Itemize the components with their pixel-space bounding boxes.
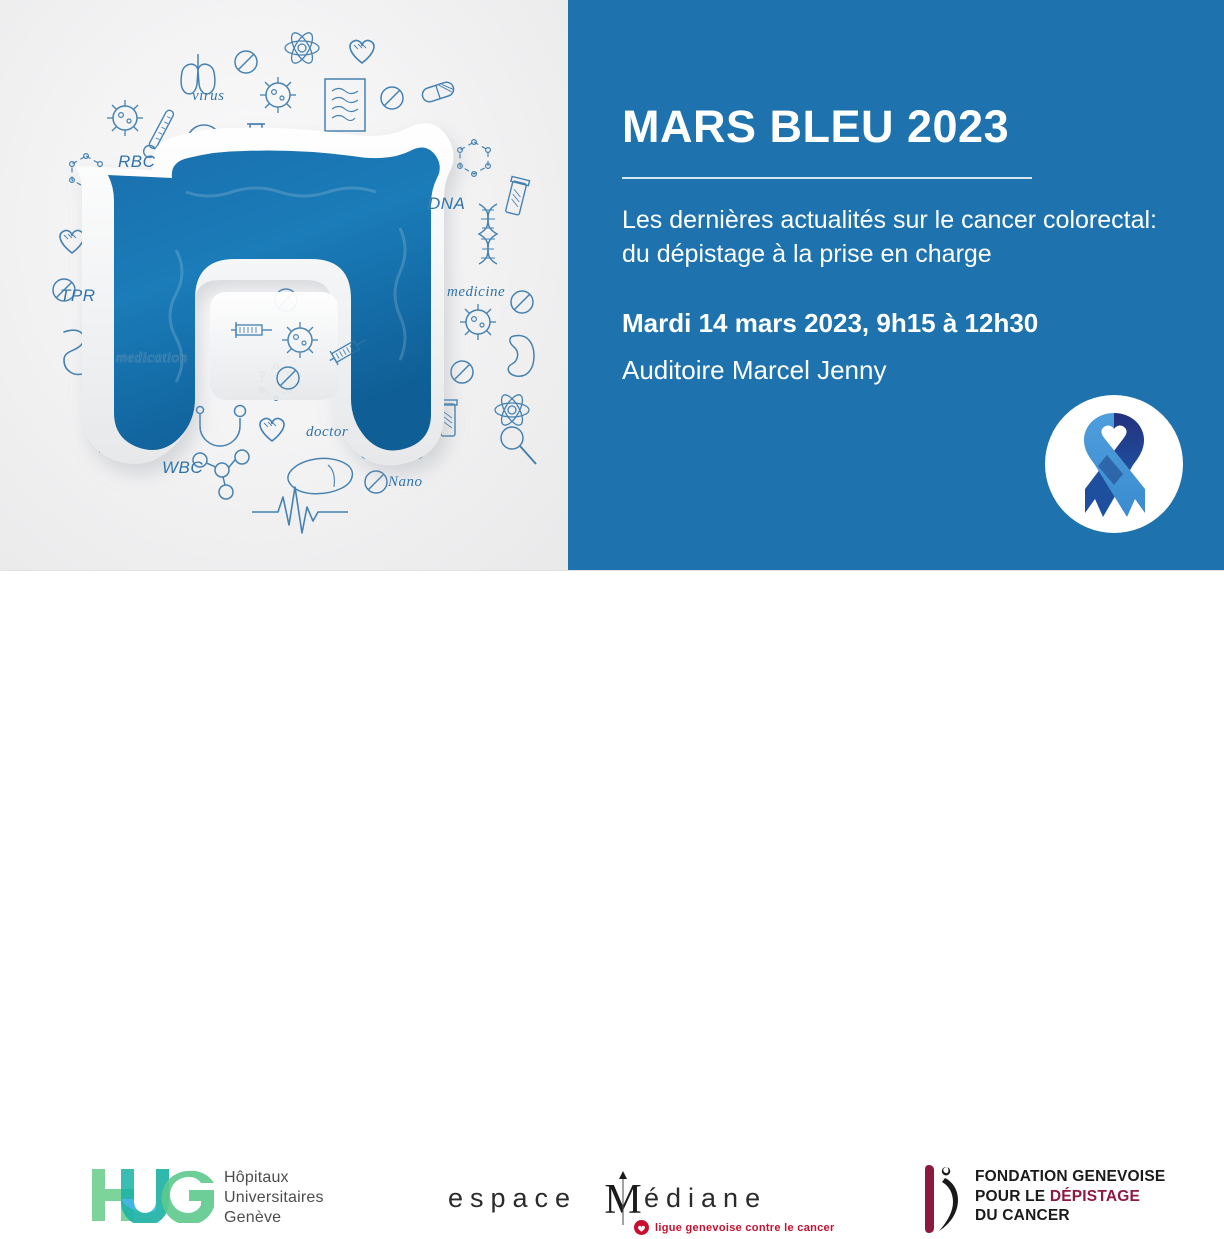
event-subtitle: Les dernières actualités sur le cancer c… bbox=[622, 204, 1182, 272]
mediane-word: édiane bbox=[644, 1183, 767, 1214]
doodle-label-wbc: WBC bbox=[162, 458, 203, 478]
event-date: Mardi 14 mars 2023, 9h15 à 12h30 bbox=[622, 308, 1038, 339]
red-heart-dot-icon bbox=[634, 1220, 649, 1235]
hug-monogram bbox=[92, 1167, 214, 1223]
doodle-label-dna: DNA bbox=[428, 194, 465, 214]
doodle-label-medicine: medicine bbox=[447, 284, 505, 301]
fondation-line-2: POUR LE DÉPISTAGE bbox=[975, 1187, 1165, 1207]
doodle-label-nano: Nano bbox=[388, 474, 423, 491]
title-divider bbox=[622, 177, 1032, 179]
fondation-line-1: FONDATION GENEVOISE bbox=[975, 1167, 1165, 1187]
espace-mediane-wordmark: espace bbox=[448, 1183, 577, 1214]
ligue-genevoise-tagline: ligue genevoise contre le cancer bbox=[634, 1220, 835, 1235]
fondation-depistage-highlight: DÉPISTAGE bbox=[1050, 1188, 1140, 1205]
fondation-wordmark: FONDATION GENEVOISE POUR LE DÉPISTAGE DU… bbox=[975, 1167, 1165, 1226]
poster-top: virus RBC DNA TPR medicine medication do… bbox=[0, 0, 1224, 570]
fondation-line-2-prefix: POUR LE bbox=[975, 1188, 1050, 1205]
footer-logos: Hôpitaux Universitaires Genève espace M … bbox=[0, 570, 1224, 691]
event-venue: Auditoire Marcel Jenny bbox=[622, 355, 886, 386]
blue-awareness-ribbon-badge bbox=[1045, 395, 1183, 533]
doodle-label-rbc: RBC bbox=[118, 152, 155, 172]
doodle-label-medication: medication bbox=[116, 350, 188, 367]
fondation-line-3: DU CANCER bbox=[975, 1206, 1165, 1226]
mediane-m-arrow-icon: M bbox=[600, 1171, 646, 1225]
blue-awareness-ribbon-icon bbox=[1045, 395, 1183, 533]
espace-word: espace bbox=[448, 1183, 577, 1213]
doodle-label-virus: virus bbox=[192, 88, 225, 105]
hug-line-3: Genève bbox=[224, 1208, 324, 1228]
hug-wordmark: Hôpitaux Universitaires Genève bbox=[224, 1168, 324, 1228]
logo-fondation-genevoise: FONDATION GENEVOISE POUR LE DÉPISTAGE DU… bbox=[925, 1163, 1155, 1235]
hug-line-1: Hôpitaux bbox=[224, 1168, 324, 1188]
page-title: MARS BLEU 2023 bbox=[622, 104, 1009, 149]
poster: virus RBC DNA TPR medicine medication do… bbox=[0, 0, 1224, 690]
doodle-label-tpr: TPR bbox=[60, 286, 96, 306]
logo-hug: Hôpitaux Universitaires Genève bbox=[92, 1165, 432, 1227]
logo-espace-mediane: espace M édiane ligue genevoise contre l… bbox=[448, 1169, 798, 1239]
colon-illustration-panel: virus RBC DNA TPR medicine medication do… bbox=[0, 0, 568, 570]
ligue-tagline-text: ligue genevoise contre le cancer bbox=[655, 1222, 835, 1234]
fondation-figure-icon bbox=[925, 1163, 967, 1233]
hug-line-2: Universitaires bbox=[224, 1188, 324, 1208]
doodle-label-doctor: doctor bbox=[306, 424, 348, 441]
